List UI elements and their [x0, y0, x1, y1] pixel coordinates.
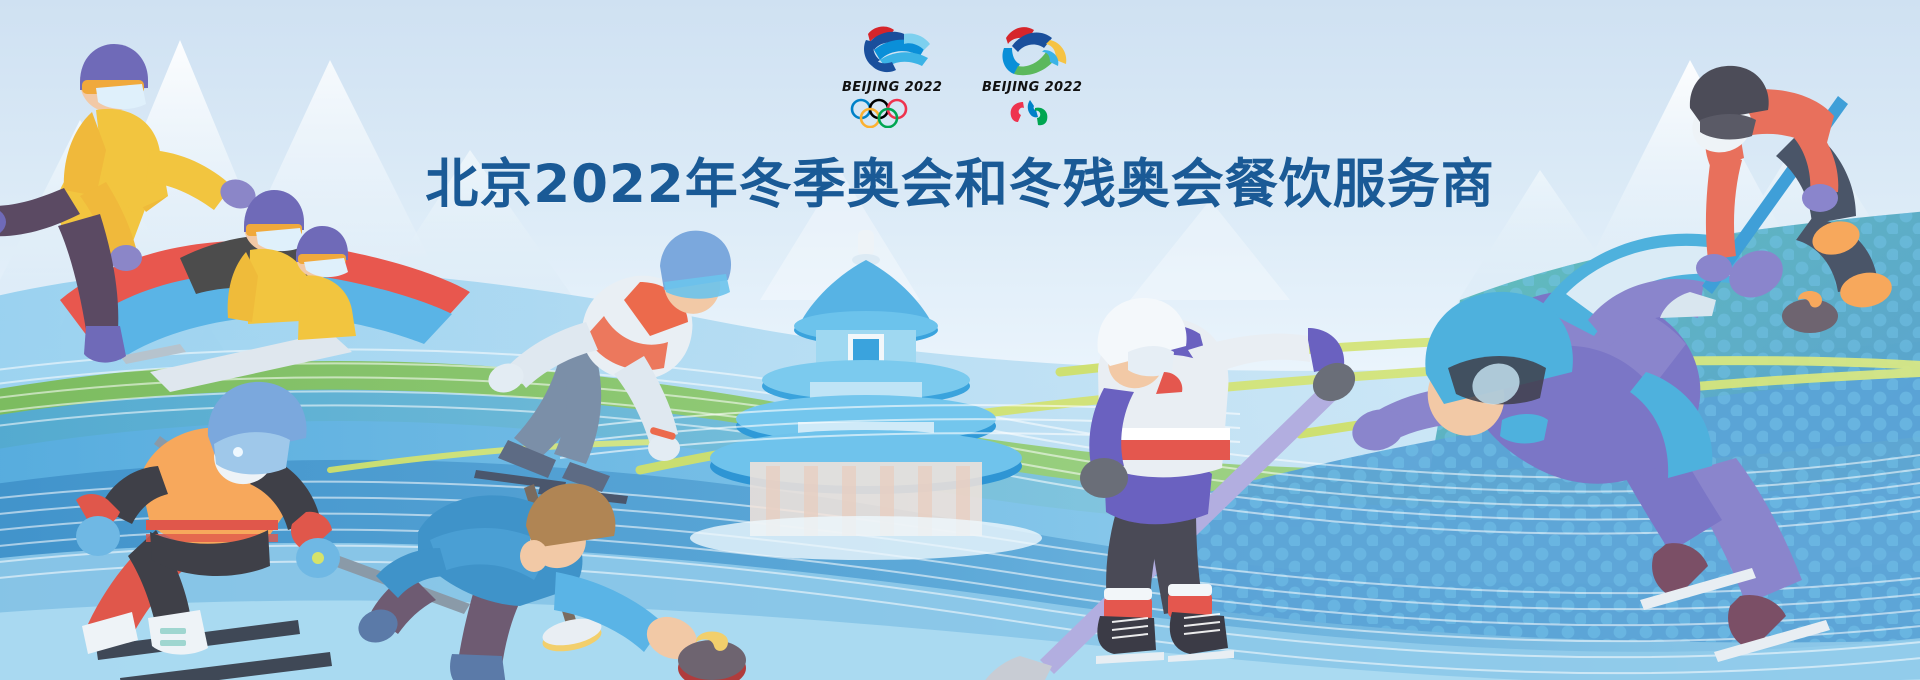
ice-hockey-player: [984, 298, 1362, 680]
temple-of-heaven: [690, 230, 1042, 560]
bobsleigh-rider-3: [296, 226, 356, 340]
olympic-emblem: BEIJING 2022: [842, 22, 938, 128]
olympic-wordmark: BEIJING 2022: [842, 81, 938, 94]
speed-skater-small: [474, 231, 731, 504]
banner-header: BEIJING 2022: [0, 0, 1920, 218]
cross-country-skier: [76, 382, 470, 680]
paralympic-emblem-mark: [984, 22, 1076, 78]
olympic-emblem-mark: [844, 22, 936, 78]
curler-deliverer: [354, 483, 746, 680]
page-title: 北京2022年冬季奥会和冬残奥会餐饮服务商: [0, 128, 1920, 218]
paralympic-wordmark: BEIJING 2022: [982, 81, 1078, 94]
paralympic-emblem: BEIJING 2022: [982, 22, 1078, 128]
olympic-rings-icon: [847, 98, 933, 128]
paralympic-agitos-icon: [987, 98, 1073, 128]
speed-skater-large: [1348, 234, 1830, 662]
emblem-row: BEIJING 2022: [0, 0, 1920, 128]
olympic-banner: BEIJING 2022: [0, 0, 1920, 680]
